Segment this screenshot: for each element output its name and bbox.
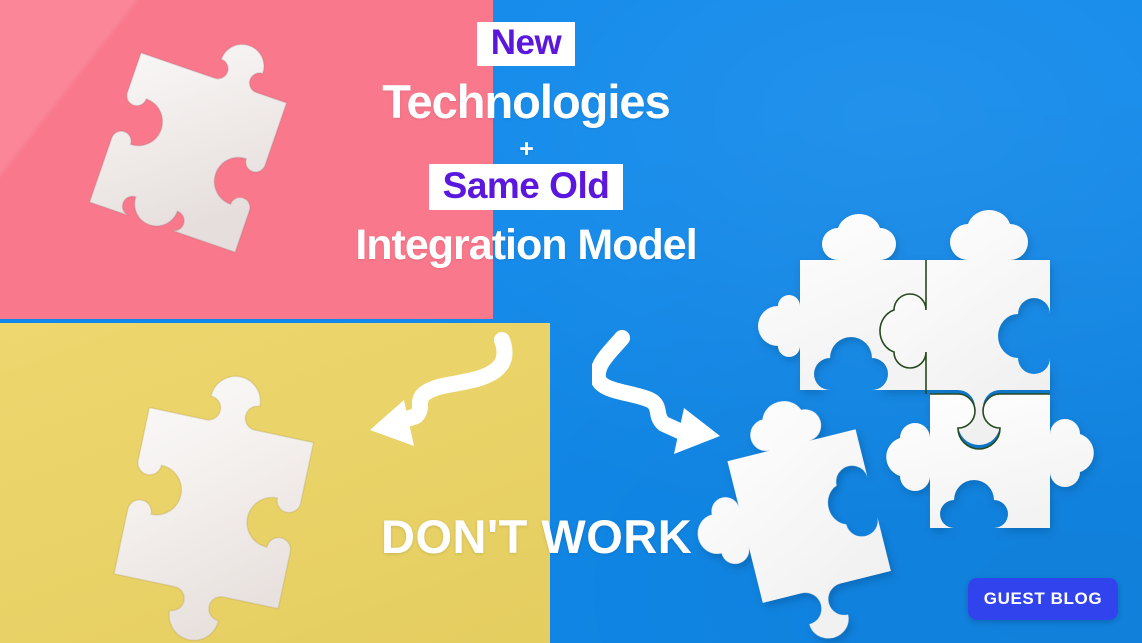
headline-line-integration-model: Integration Model — [276, 219, 776, 271]
squiggly-arrow-left-icon — [362, 328, 518, 454]
conclusion-text: DON'T WORK — [381, 511, 692, 563]
puzzle-piece-icon — [96, 44, 286, 244]
guest-blog-label: GUEST BLOG — [984, 589, 1102, 609]
headline-line-same-old: Same Old — [276, 164, 776, 210]
headline-line-technologies: Technologies — [276, 74, 776, 130]
pink-quadrant-puzzle-piece — [96, 44, 286, 244]
left-squiggly-arrow — [362, 328, 518, 454]
squiggly-arrow-right-icon — [592, 330, 734, 464]
headline-highlight-new: New — [477, 22, 575, 66]
puzzle-piece-icon — [104, 378, 334, 618]
headline-highlight-same-old: Same Old — [429, 164, 624, 210]
puzzle-piece-icon — [714, 404, 914, 634]
headline-plus-sign: + — [276, 134, 776, 164]
promo-graphic-canvas: New Technologies + Same Old Integration … — [0, 0, 1142, 643]
blue-quadrant-loose-puzzle-piece — [714, 404, 914, 634]
yellow-quadrant-puzzle-piece — [104, 378, 334, 618]
headline-block: New Technologies + Same Old Integration … — [276, 22, 776, 271]
headline-line-new: New — [276, 22, 776, 66]
right-squiggly-arrow — [592, 330, 734, 464]
guest-blog-button[interactable]: GUEST BLOG — [968, 578, 1118, 620]
